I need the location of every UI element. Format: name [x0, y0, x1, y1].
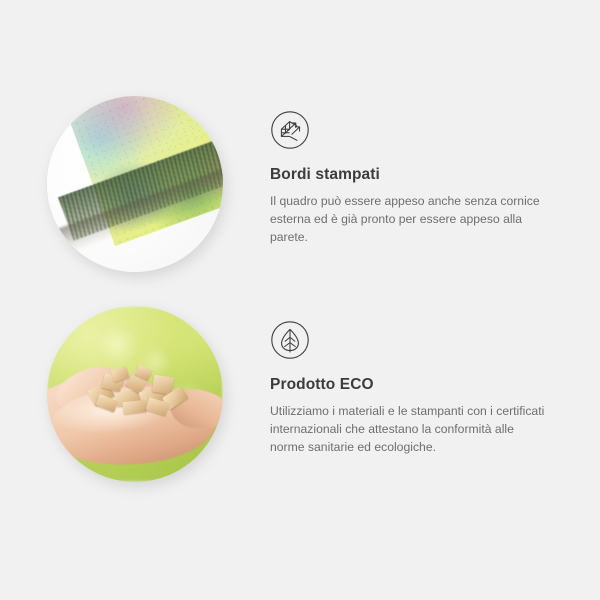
canvas-corner-photo	[47, 96, 223, 272]
feature-text-printed-edges: Bordi stampati Il quadro può essere appe…	[270, 96, 570, 246]
canvas-corner-illustration	[47, 96, 223, 272]
printed-edges-icon	[270, 110, 310, 150]
feature-text-eco: Prodotto ECO Utilizziamo i materiali e l…	[270, 306, 570, 456]
product-features-panel: Bordi stampati Il quadro può essere appe…	[0, 0, 600, 600]
feature-description-printed-edges: Il quadro può essere appeso anche senza …	[270, 192, 546, 246]
feature-title-eco: Prodotto ECO	[270, 376, 570, 395]
feature-description-eco: Utilizziamo i materiali e le stampanti c…	[270, 402, 546, 456]
feature-media-eco	[0, 306, 270, 482]
wood-chips-hands-photo	[47, 306, 223, 482]
wood-chips-illustration	[47, 306, 223, 482]
wood-chip-pile	[86, 366, 195, 422]
leaf-icon	[270, 320, 310, 360]
feature-title-printed-edges: Bordi stampati	[270, 166, 570, 185]
feature-block-eco: Prodotto ECO Utilizziamo i materiali e l…	[0, 306, 570, 482]
feature-block-printed-edges: Bordi stampati Il quadro può essere appe…	[0, 96, 570, 272]
feature-media-printed-edges	[0, 96, 270, 272]
